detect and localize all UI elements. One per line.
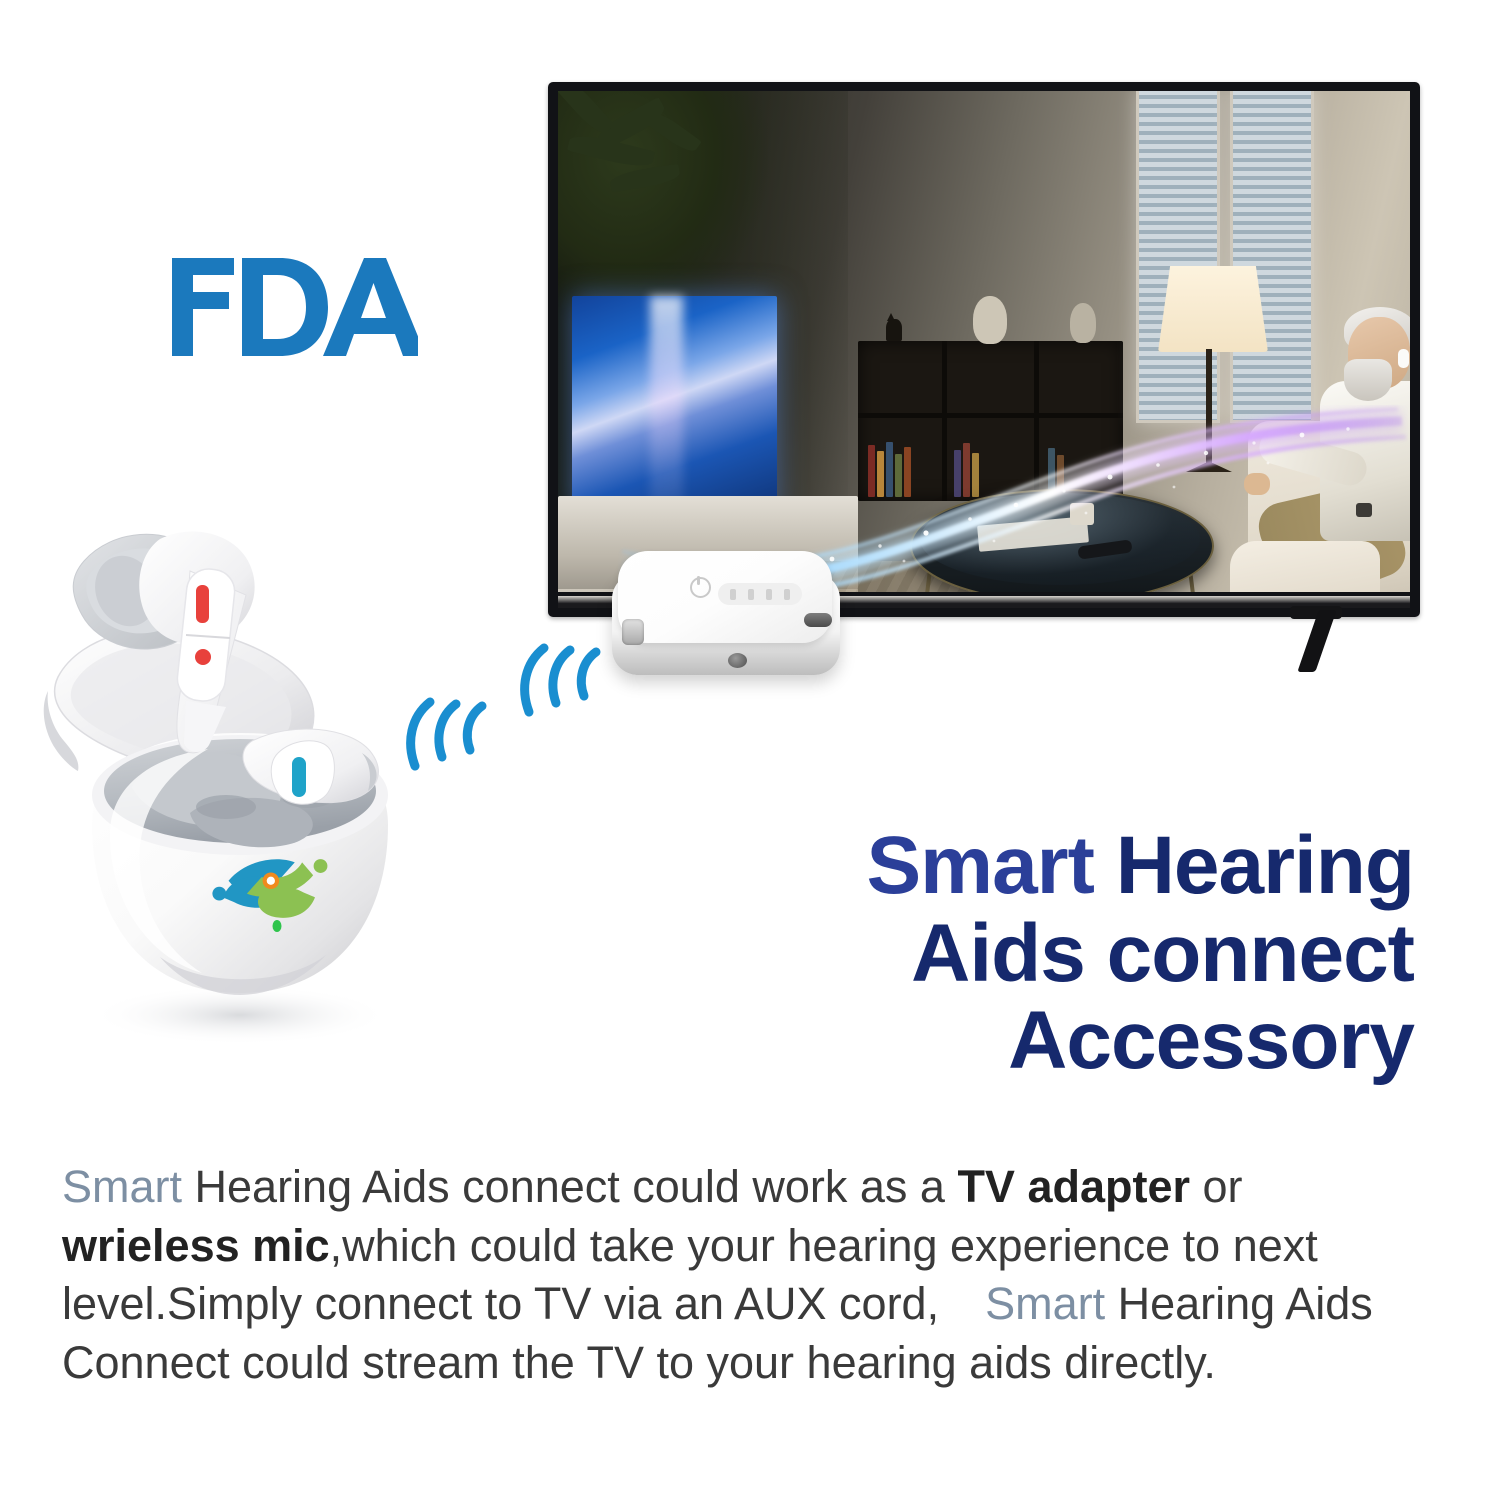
earbuds-charging-case [40,495,440,1055]
television [548,82,1420,617]
led-indicator-bar [718,583,802,605]
decor-figurine [886,319,902,341]
body-copy: Smart Hearing Aids connect could work as… [62,1158,1422,1392]
tv-stand-leg [1297,610,1336,672]
wireless-signal-near [512,636,620,722]
led-2 [748,589,754,600]
hearing-aid-worn [1398,349,1409,368]
headline-line-1: Smart Hearing [690,822,1414,910]
power-icon [690,577,711,598]
tv-transmitter [604,545,854,695]
body-accent-word-2: Smart [985,1278,1105,1329]
usb-c-port [804,613,832,627]
led-4 [784,589,790,600]
headline-line-3: Accessory [690,997,1414,1085]
headline-line-1-rest: Hearing [1094,820,1414,911]
led-3 [766,589,772,600]
vase-large [973,296,1007,344]
poster-canvas: Smart Hearing Aids connect Accessory Sma… [0,0,1500,1500]
led-1 [730,589,736,600]
vase-small [1070,303,1096,343]
fda-logo [168,252,418,362]
body-bold-tv-adapter: TV adapter [957,1161,1190,1212]
tv-screen [558,91,1410,592]
side-switch [622,619,644,645]
aux-jack [728,653,747,668]
headline-line-2: Aids connect [690,910,1414,998]
headline-accent-word: Smart [866,820,1093,911]
body-bold-wireless-mic: wrieless mic [62,1220,330,1271]
floor-lamp-shade [1158,266,1268,352]
status-led [273,920,282,932]
window-blind-right [1230,91,1314,423]
body-seg-4: or [1190,1161,1243,1212]
body-seg-2: Hearing Aids connect could work as a [182,1161,957,1212]
page-headline: Smart Hearing Aids connect Accessory [690,822,1414,1085]
body-accent-word-1: Smart [62,1161,182,1212]
potted-plant [558,91,768,323]
transmitter-top [618,551,832,643]
